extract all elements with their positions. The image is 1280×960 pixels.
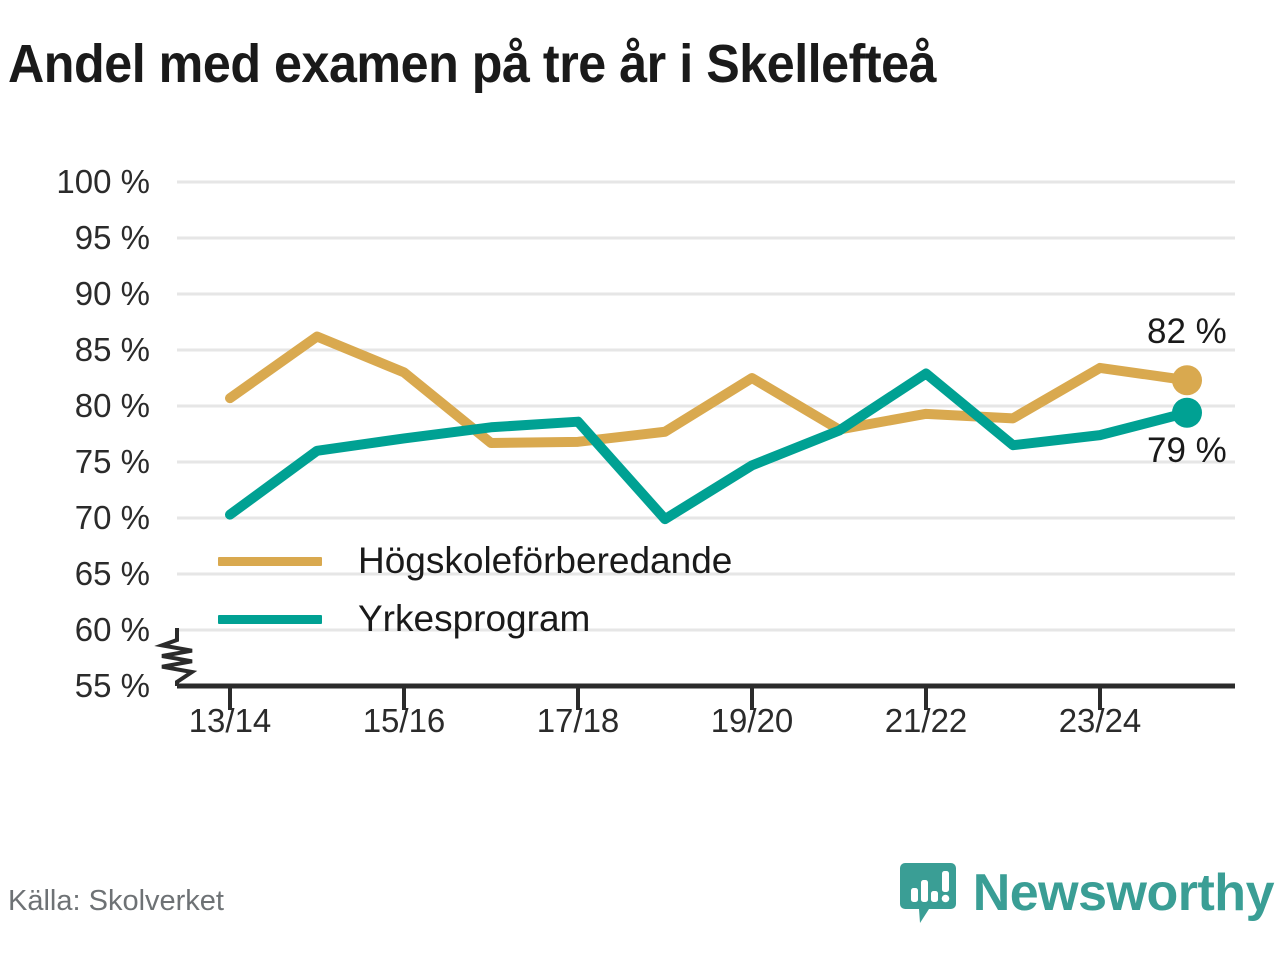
series-lines <box>230 337 1187 520</box>
y-axis-tick-label: 65 % <box>30 555 150 593</box>
y-axis-tick-label: 60 % <box>30 611 150 649</box>
legend-swatch-line-icon-0 <box>218 557 322 566</box>
x-axis-tick-label: 23/24 <box>1059 702 1142 740</box>
y-axis-tick-label: 80 % <box>30 387 150 425</box>
legend-item-0[interactable]: Högskoleförberedande <box>218 532 818 590</box>
chart-page: Andel med examen på tre år i Skellefteå … <box>0 0 1280 960</box>
x-axis-tick-label: 19/20 <box>711 702 794 740</box>
newsworthy-bubble-barchart-icon <box>899 862 957 924</box>
x-axis-tick-label: 15/16 <box>363 702 446 740</box>
y-axis-tick-label: 95 % <box>30 219 150 257</box>
x-axis-tick-label: 21/22 <box>885 702 968 740</box>
y-axis-tick-label: 70 % <box>30 499 150 537</box>
brand-logo[interactable]: Newsworthy <box>899 862 1274 924</box>
x-axis-tick-label: 13/14 <box>189 702 272 740</box>
chart-canvas <box>0 0 1280 960</box>
x-axis-ticks <box>230 686 1100 710</box>
plot-area: 100 %95 %90 %85 %80 %75 %70 %65 %60 %55 … <box>0 0 1280 960</box>
legend: Högskoleförberedande Yrkesprogram <box>218 532 818 648</box>
legend-swatch-line-icon-1 <box>218 615 322 624</box>
series-end-label-0: 82 % <box>1147 312 1227 352</box>
y-axis-tick-label: 85 % <box>30 331 150 369</box>
series-end-markers <box>1172 365 1202 427</box>
legend-item-label-1: Yrkesprogram <box>358 598 590 640</box>
y-axis-labels: 100 %95 %90 %85 %80 %75 %70 %65 %60 %55 … <box>20 0 150 960</box>
legend-item-1[interactable]: Yrkesprogram <box>218 590 818 648</box>
y-axis-tick-label: 55 % <box>30 667 150 705</box>
x-axis-tick-label: 17/18 <box>537 702 620 740</box>
y-axis-tick-label: 75 % <box>30 443 150 481</box>
legend-item-label-0: Högskoleförberedande <box>358 540 732 582</box>
brand-name: Newsworthy <box>973 867 1274 919</box>
y-axis-tick-label: 90 % <box>30 275 150 313</box>
axis-break-zigzag-icon <box>162 628 192 686</box>
source-note: Källa: Skolverket <box>8 885 224 918</box>
y-axis-tick-label: 100 % <box>30 163 150 201</box>
series-end-label-1: 79 % <box>1147 431 1227 471</box>
